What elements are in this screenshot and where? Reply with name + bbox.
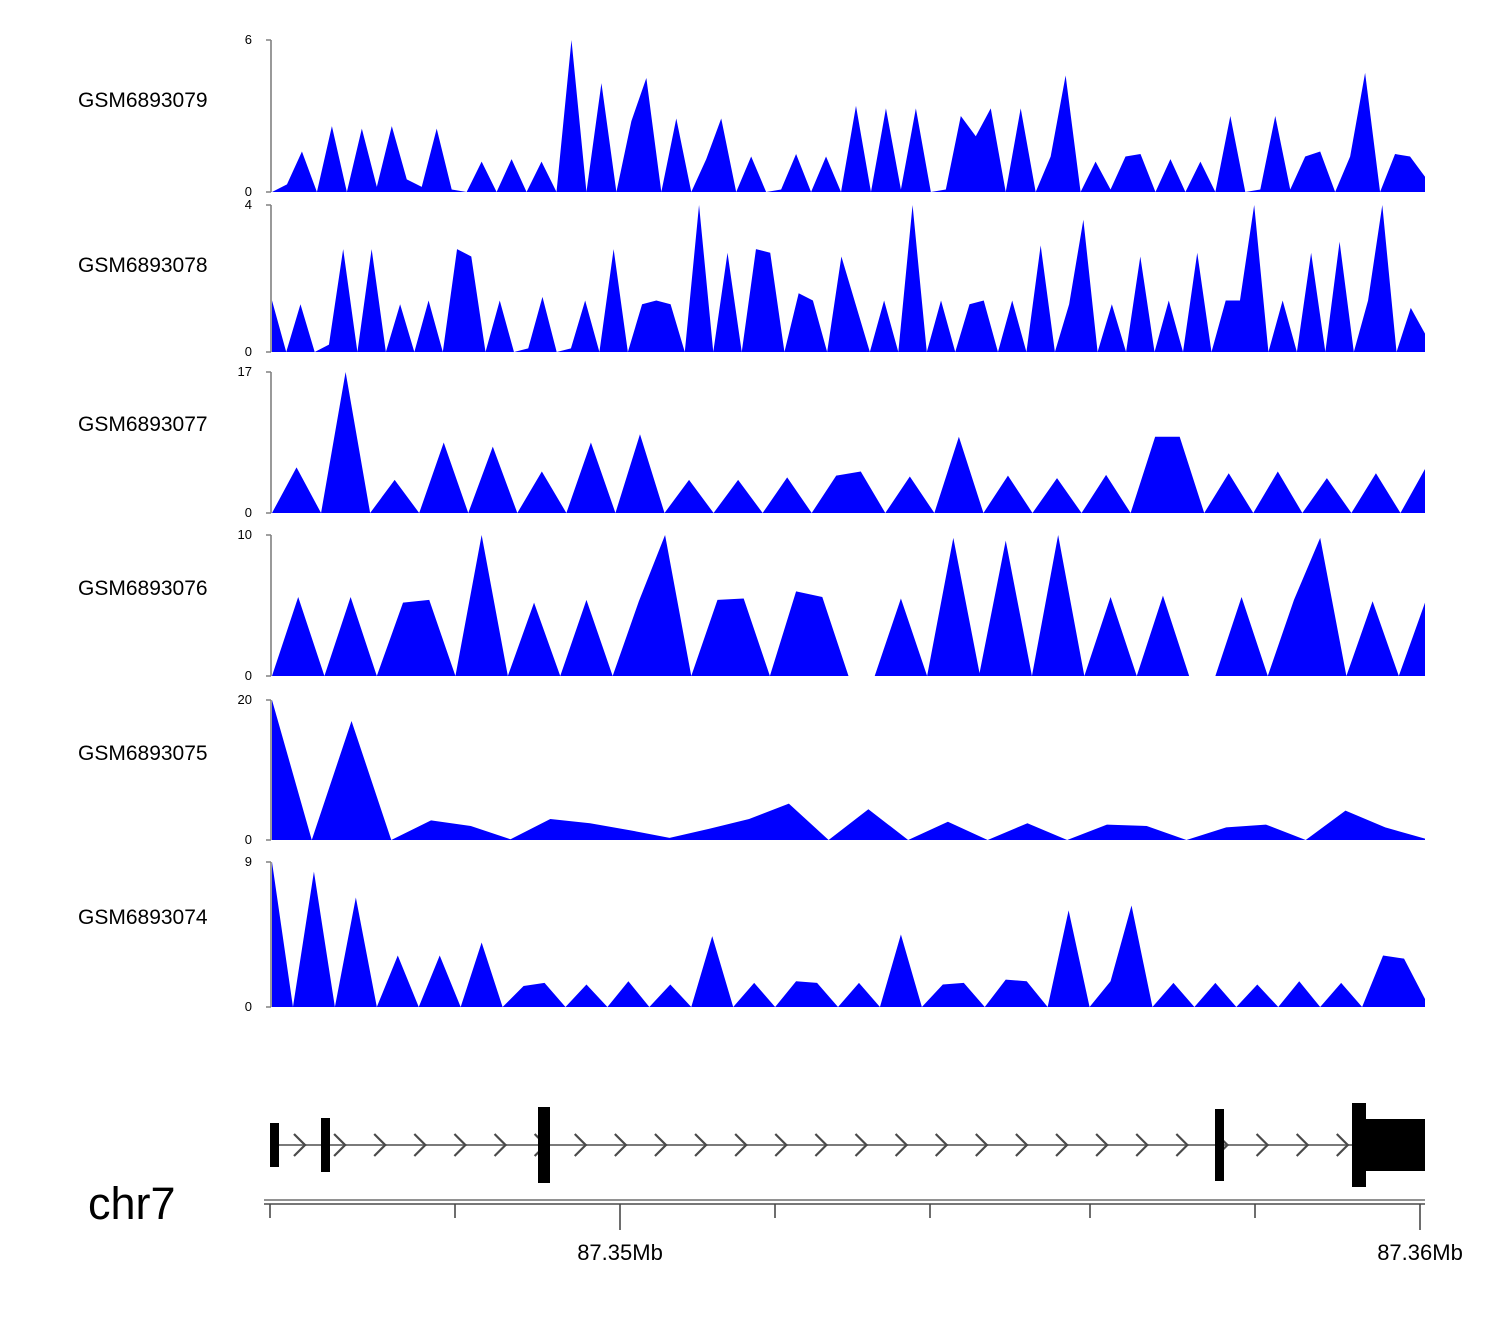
coverage-area <box>272 700 1425 840</box>
y-axis-min-label: 0 <box>222 505 252 520</box>
y-axis-max-label: 17 <box>222 364 252 379</box>
y-axis-spine <box>266 372 271 513</box>
y-axis-max-label: 9 <box>222 854 252 869</box>
exon-5-cds <box>1352 1103 1366 1187</box>
y-axis-spine <box>266 700 271 840</box>
y-axis-min-label: 0 <box>222 999 252 1014</box>
coverage-area <box>272 40 1425 192</box>
y-axis-spine <box>266 205 271 352</box>
track-label-GSM6893074: GSM6893074 <box>78 906 238 930</box>
exon-5-utr <box>1366 1119 1425 1171</box>
coverage-plot-figure: GSM689307960GSM689307840GSM6893077170GSM… <box>0 0 1500 1320</box>
coverage-area <box>272 372 1425 513</box>
track-label-GSM6893075: GSM6893075 <box>78 742 238 766</box>
track-label-GSM6893078: GSM6893078 <box>78 254 238 278</box>
track-label-GSM6893079: GSM6893079 <box>78 89 238 113</box>
y-axis-max-label: 10 <box>222 527 252 542</box>
exon-3 <box>538 1107 550 1183</box>
y-axis-spine <box>266 535 271 676</box>
y-axis-min-label: 0 <box>222 668 252 683</box>
y-axis-min-label: 0 <box>222 832 252 847</box>
coverage-area <box>272 862 1425 1007</box>
gene-model-svg <box>0 1085 1500 1205</box>
exon-4 <box>1215 1109 1224 1181</box>
axis-tick-label: 87.35Mb <box>577 1240 663 1266</box>
exon-2 <box>321 1118 330 1172</box>
y-axis-min-label: 0 <box>222 344 252 359</box>
y-axis-max-label: 20 <box>222 692 252 707</box>
y-axis-max-label: 4 <box>222 197 252 212</box>
axis-tick-label: 87.36Mb <box>1377 1240 1463 1266</box>
coverage-area <box>272 535 1425 676</box>
y-axis-spine <box>266 40 271 192</box>
genome-axis-panel <box>0 1190 1500 1250</box>
exon-1 <box>270 1123 279 1167</box>
coverage-area <box>272 205 1425 352</box>
track-label-GSM6893077: GSM6893077 <box>78 413 238 437</box>
genome-axis-svg <box>0 1190 1500 1250</box>
y-axis-spine <box>266 862 271 1007</box>
y-axis-max-label: 6 <box>222 32 252 47</box>
track-label-GSM6893076: GSM6893076 <box>78 577 238 601</box>
gene-model-panel <box>0 1085 1500 1205</box>
